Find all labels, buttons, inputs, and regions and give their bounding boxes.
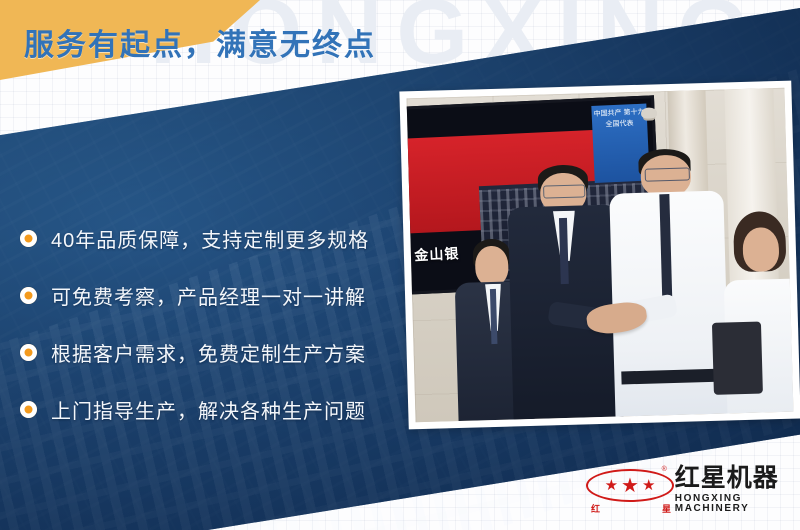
logo-char-left: 红 [591, 502, 600, 515]
list-item: 根据客户需求，免费定制生产方案 [20, 326, 420, 378]
photo-glasses [644, 167, 689, 181]
photo-head [475, 245, 509, 286]
logo-name-cn: 红星机器 [675, 466, 800, 491]
logo-mark-characters: 红 星 [591, 502, 671, 515]
brand-logo: ★ ★ ★ ® 红 星 红星机器 HONGXING MACHINERY [586, 466, 800, 514]
photo-person-center [507, 164, 624, 420]
bullet-dot-icon [20, 401, 37, 418]
list-item: 40年品质保障，支持定制更多规格 [20, 212, 420, 264]
photo-person-right [608, 148, 729, 417]
list-item-label: 可免费考察，产品经理一对一讲解 [51, 281, 366, 310]
bullet-dot-icon [20, 344, 37, 361]
page-title: 服务有起点，满意无终点 [24, 20, 376, 64]
logo-name-en: HONGXING MACHINERY [675, 494, 800, 514]
photo-card: 金山银 中国共产 第十九 全国代表 [399, 81, 800, 430]
logo-mark: ★ ★ ★ ® 红 星 [586, 467, 665, 513]
star-icon-right: ★ [642, 478, 655, 493]
registered-mark-icon: ® [662, 466, 667, 473]
list-item: 上门指导生产，解决各种生产问题 [20, 383, 420, 435]
photo-tie [559, 218, 570, 284]
star-icon-center: ★ [621, 476, 639, 496]
list-item: 可免费考察，产品经理一对一讲解 [20, 269, 420, 321]
photo-head [742, 227, 780, 272]
bullet-dot-icon [20, 230, 37, 247]
logo-char-right: 星 [662, 502, 671, 515]
star-icon-left: ★ [605, 478, 618, 493]
bullet-dot-icon [20, 287, 37, 304]
handshake-photo: 金山银 中国共产 第十九 全国代表 [407, 88, 794, 422]
list-item-label: 根据客户需求，免费定制生产方案 [51, 338, 366, 367]
logo-stars-icon: ★ ★ ★ [586, 469, 674, 502]
list-item-label: 上门指导生产，解决各种生产问题 [51, 395, 366, 424]
list-item-label: 40年品质保障，支持定制更多规格 [51, 224, 369, 253]
photo-briefcase [712, 322, 763, 395]
feature-list: 40年品质保障，支持定制更多规格 可免费考察，产品经理一对一讲解 根据客户需求，… [20, 212, 420, 440]
photo-belt [621, 369, 721, 385]
poster-canvas: HONGXING 服务有起点，满意无终点 40年品质保障，支持定制更多规格 可免… [0, 0, 800, 530]
security-camera-icon [641, 108, 657, 119]
logo-wordmark: 红星机器 HONGXING MACHINERY [675, 466, 800, 514]
photo-glasses [543, 185, 585, 198]
